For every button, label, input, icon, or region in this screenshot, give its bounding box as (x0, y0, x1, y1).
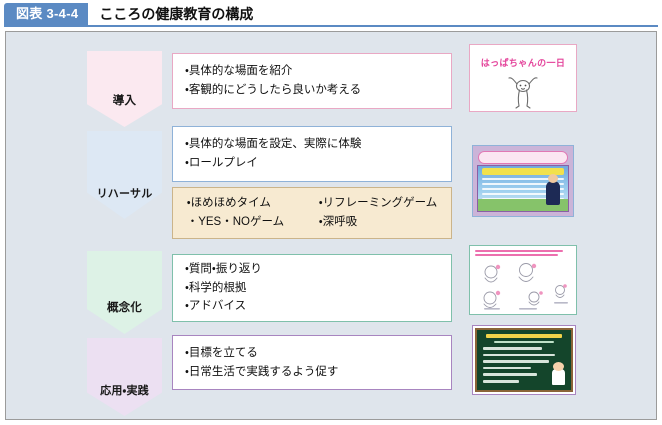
content-line: ・ロールプレイ (185, 154, 439, 173)
thumbnail-blackboard-slide (472, 325, 576, 395)
content-line: ・ほめほめタイム (187, 194, 319, 213)
worksheet-sketch-cells (474, 260, 572, 310)
blackboard-subtitle-bar (494, 341, 554, 343)
figure-title: こころの健康教育の構成 (88, 3, 253, 25)
figure-container: 図表 3-4-4 こころの健康教育の構成 導入 リハーサル 概念化 応用・実践 … (0, 0, 662, 425)
blackboard-title-bar (486, 334, 561, 338)
slide-character (546, 181, 560, 205)
stage-arrow-rehearsal: リハーサル (87, 131, 162, 219)
slide-body (477, 165, 569, 212)
content-box-application: ・目標を立てる ・日常生活で実践するよう促す (172, 335, 452, 390)
thumbnail-inner (470, 246, 576, 314)
thumbnail-inner (473, 146, 573, 216)
content-line: ・アドバイス (185, 297, 439, 316)
thumbnail-happachan-no-ichinichi: はっぱちゃんの一日 (469, 44, 577, 112)
figure-number-badge: 図表 3-4-4 (4, 3, 88, 25)
thumbnail-caption-happachan: はっぱちゃんの一日 (470, 56, 576, 69)
content-line: ・科学的根拠 (185, 279, 439, 298)
content-line: ・質問・振り返り (185, 260, 439, 279)
activities-column-left: ・ほめほめタイム ・YES・NOゲーム (187, 194, 319, 231)
stage-label-application: 応用・実践 (100, 386, 149, 417)
content-line: ・具体的な場面を紹介 (185, 62, 439, 81)
stage-label-conceptualization: 概念化 (107, 303, 142, 334)
content-box-rehearsal-activities: ・ほめほめタイム ・YES・NOゲーム ・リフレーミングゲーム ・深呼吸 (172, 187, 452, 239)
content-line: ・リフレーミングゲーム (319, 194, 438, 213)
figure-titlebar: 図表 3-4-4 こころの健康教育の構成 (4, 3, 658, 27)
stage-label-introduction: 導入 (113, 96, 136, 127)
worksheet-heading-lines (475, 250, 571, 258)
content-line: ・客観的にどうしたら良いか考える (185, 81, 439, 100)
worksheet-sketch-figures (474, 260, 574, 312)
thumbnail-inner: はっぱちゃんの一日 (470, 45, 576, 111)
thumbnail-rehearsal-slide (472, 145, 574, 217)
thumbnail-inner (473, 326, 575, 394)
content-line: ・日常生活で実践するよう促す (185, 363, 439, 382)
leaf-character-illustration (500, 73, 546, 109)
stage-arrow-application: 応用・実践 (87, 338, 162, 416)
stage-arrow-introduction: 導入 (87, 51, 162, 127)
content-line: ・深呼吸 (319, 213, 438, 232)
content-box-conceptualization: ・質問・振り返り ・科学的根拠 ・アドバイス (172, 254, 452, 322)
content-line: ・YES・NOゲーム (187, 213, 319, 232)
content-box-introduction: ・具体的な場面を紹介 ・客観的にどうしたら良いか考える (172, 53, 452, 109)
content-line: ・具体的な場面を設定、実際に体験 (185, 135, 439, 154)
diagram-panel: 導入 リハーサル 概念化 応用・実践 ・具体的な場面を紹介 ・客観的にどうしたら… (5, 31, 657, 420)
content-line: ・目標を立てる (185, 344, 439, 363)
thumbnail-worksheet-sketches (469, 245, 577, 315)
teacher-character (552, 369, 565, 385)
blackboard-surface (475, 328, 573, 392)
stage-label-rehearsal: リハーサル (97, 189, 153, 220)
content-box-rehearsal: ・具体的な場面を設定、実際に体験 ・ロールプレイ (172, 126, 452, 182)
activities-column-right: ・リフレーミングゲーム ・深呼吸 (319, 194, 438, 231)
stage-arrow-conceptualization: 概念化 (87, 251, 162, 334)
slide-title-ribbon (478, 151, 568, 164)
